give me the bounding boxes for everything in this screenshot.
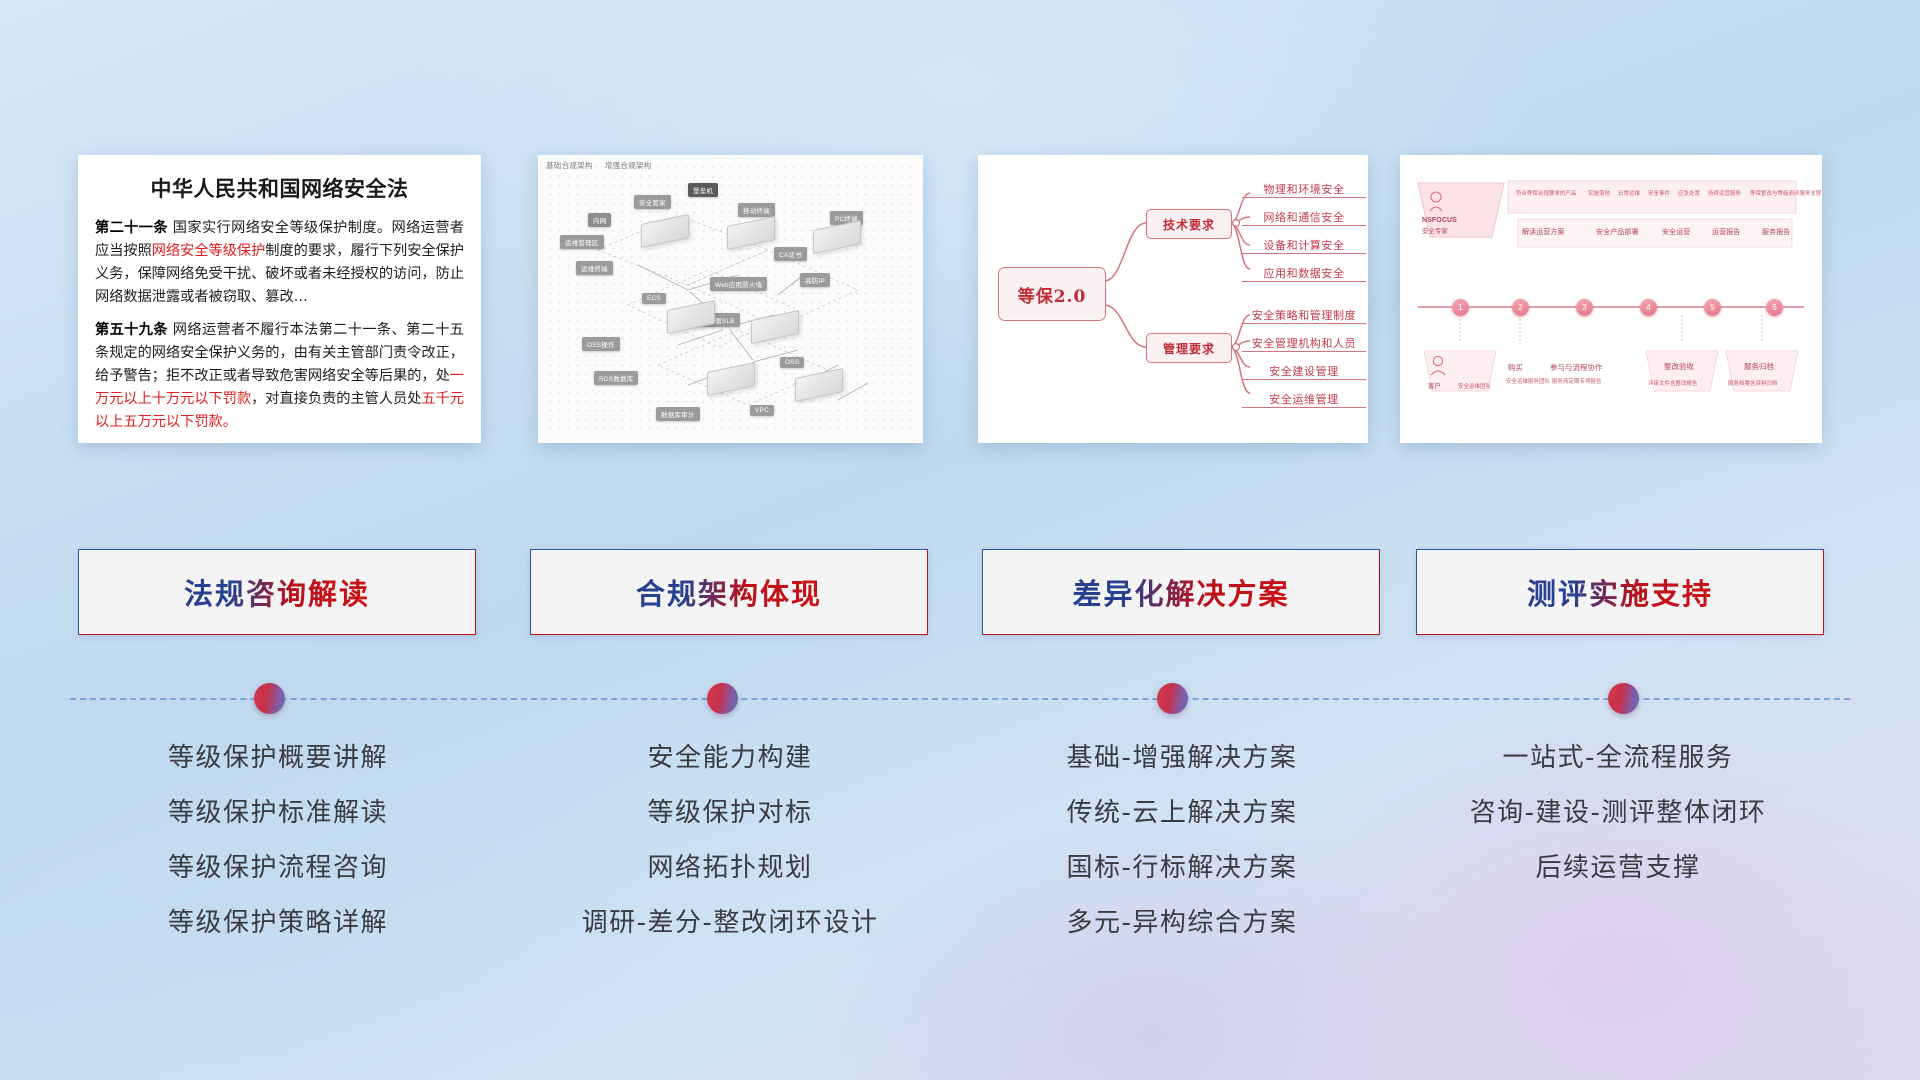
timeline-dot-1[interactable] bbox=[254, 683, 285, 714]
list-item: 等级保护标准解读 bbox=[78, 790, 478, 845]
timeline-dot-2[interactable] bbox=[707, 683, 738, 714]
list-item: 调研-差分-整改闭环设计 bbox=[530, 900, 930, 955]
heading-box-compliance-architecture[interactable]: 合规架构体现 bbox=[530, 549, 928, 635]
list-item: 咨询-建设-测评整体闭环 bbox=[1412, 790, 1824, 845]
list-item: 等级保护策略详解 bbox=[78, 900, 478, 955]
slide-canvas: 中华人民共和国网络安全法 第二十一条 国家实行网络安全等级保护制度。网络运营者应… bbox=[0, 0, 1920, 1080]
list-item: 国标-行标解决方案 bbox=[982, 845, 1382, 900]
list-item: 等级保护流程咨询 bbox=[78, 845, 478, 900]
timeline-dot-3[interactable] bbox=[1157, 683, 1188, 714]
list-item: 基础-增强解决方案 bbox=[982, 735, 1382, 790]
heading-label-2: 差异化解决方案 bbox=[1072, 571, 1289, 613]
heading-box-assessment-support[interactable]: 测评实施支持 bbox=[1416, 549, 1824, 635]
timeline-dot-4[interactable] bbox=[1608, 683, 1639, 714]
heading-label-0: 法规咨询解读 bbox=[184, 571, 370, 613]
heading-label-3: 测评实施支持 bbox=[1527, 571, 1713, 613]
list-item: 一站式-全流程服务 bbox=[1412, 735, 1824, 790]
detail-column-1: 安全能力构建 等级保护对标 网络拓扑规划 调研-差分-整改闭环设计 bbox=[530, 735, 930, 955]
list-item: 安全能力构建 bbox=[530, 735, 930, 790]
list-item: 传统-云上解决方案 bbox=[982, 790, 1382, 845]
heading-box-regulation-consulting[interactable]: 法规咨询解读 bbox=[78, 549, 476, 635]
timeline-dashed-line bbox=[70, 698, 1850, 700]
detail-column-0: 等级保护概要讲解 等级保护标准解读 等级保护流程咨询 等级保护策略详解 bbox=[78, 735, 478, 955]
detail-column-3: 一站式-全流程服务 咨询-建设-测评整体闭环 后续运营支撑 bbox=[1412, 735, 1824, 900]
list-item: 等级保护概要讲解 bbox=[78, 735, 478, 790]
list-item: 多元-异构综合方案 bbox=[982, 900, 1382, 955]
heading-box-differentiated-solution[interactable]: 差异化解决方案 bbox=[982, 549, 1380, 635]
list-item: 等级保护对标 bbox=[530, 790, 930, 845]
list-item: 后续运营支撑 bbox=[1412, 845, 1824, 900]
heading-label-1: 合规架构体现 bbox=[636, 571, 822, 613]
list-item: 网络拓扑规划 bbox=[530, 845, 930, 900]
detail-column-2: 基础-增强解决方案 传统-云上解决方案 国标-行标解决方案 多元-异构综合方案 bbox=[982, 735, 1382, 955]
